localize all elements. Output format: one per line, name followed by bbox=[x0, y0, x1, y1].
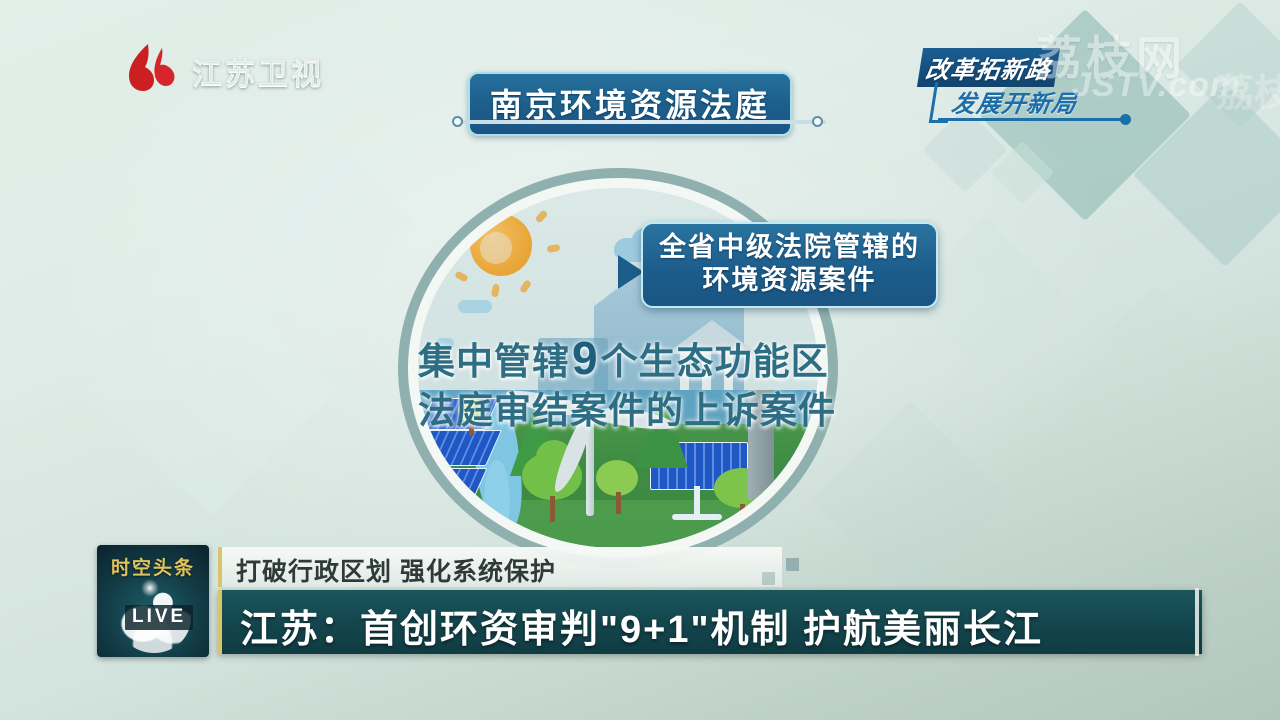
live-badge: LIVE bbox=[125, 605, 193, 630]
broadcast-screen: 江苏卫视 改革拓新路 发展开新局 荔枝网 JSTV.com 荔枝网 南京环境资源… bbox=[0, 0, 1280, 720]
program-badge-title: 时空头条 bbox=[97, 553, 209, 580]
lower-third: 时空头条 LIVE 打破行政区划 强化系统保护 江苏：首创环资审判"9+1"机制… bbox=[0, 0, 1280, 720]
decorative-square bbox=[786, 558, 799, 571]
program-badge: 时空头条 LIVE bbox=[97, 545, 209, 657]
subtitle-text: 打破行政区划 强化系统保护 bbox=[236, 552, 556, 588]
subtitle-bar: 打破行政区划 强化系统保护 bbox=[218, 547, 782, 587]
headline-text: 江苏：首创环资审判"9+1"机制 护航美丽长江 bbox=[240, 598, 1043, 653]
decorative-square bbox=[762, 572, 775, 585]
headline-bar: 江苏：首创环资审判"9+1"机制 护航美丽长江 bbox=[218, 590, 1202, 654]
headline-bar-edge bbox=[1195, 588, 1199, 656]
globe-shine bbox=[141, 579, 159, 597]
